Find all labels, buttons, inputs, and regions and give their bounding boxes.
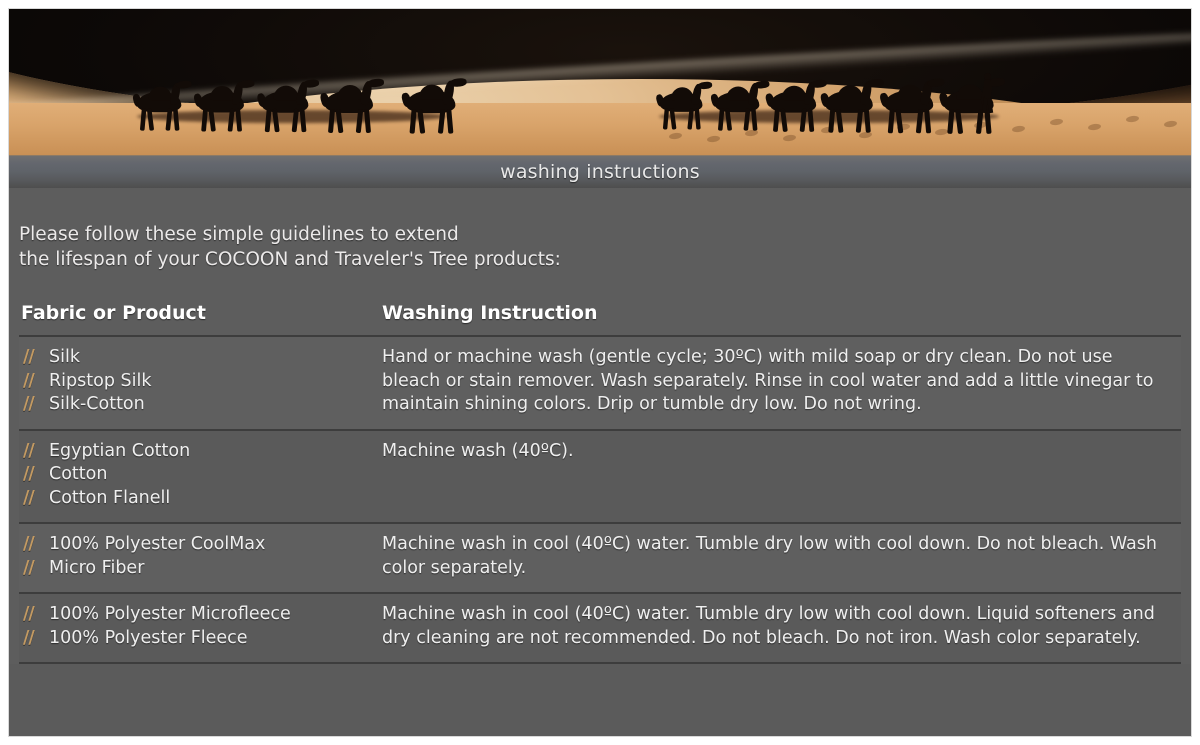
double-slash-icon: // — [23, 440, 43, 464]
caravan-group-1 — [127, 71, 487, 133]
double-slash-icon: // — [23, 487, 43, 511]
intro-line-1: Please follow these simple guidelines to… — [19, 222, 1181, 247]
fabric-list: //Silk //Ripstop Silk //Silk-Cotton — [21, 346, 377, 417]
table-row: //100% Polyester CoolMax //Micro Fiber M… — [19, 523, 1181, 593]
camel — [317, 75, 387, 133]
double-slash-icon: // — [23, 463, 43, 487]
fabric-list: //100% Polyester CoolMax //Micro Fiber — [21, 533, 377, 580]
double-slash-icon: // — [23, 627, 43, 651]
double-slash-icon: // — [23, 370, 43, 394]
fabric-cell: //Silk //Ripstop Silk //Silk-Cotton — [19, 336, 377, 430]
list-item: //100% Polyester Microfleece — [21, 603, 377, 627]
table-row: //Egyptian Cotton //Cotton //Cotton Flan… — [19, 430, 1181, 524]
instruction-cell: Hand or machine wash (gentle cycle; 30ºC… — [377, 336, 1181, 430]
content-area: Please follow these simple guidelines to… — [9, 188, 1191, 664]
fabric-label: 100% Polyester CoolMax — [49, 534, 265, 554]
instruction-text: Machine wash in cool (40ºC) water. Tumbl… — [382, 603, 1169, 650]
double-slash-icon: // — [23, 557, 43, 581]
camel-herder-figure — [981, 71, 993, 113]
list-item: //Silk — [21, 346, 377, 370]
double-slash-icon: // — [23, 393, 43, 417]
double-slash-icon: // — [23, 603, 43, 627]
list-item: //100% Polyester CoolMax — [21, 533, 377, 557]
camel — [398, 74, 469, 133]
desert-camel-caravan-banner — [9, 9, 1191, 155]
washing-instructions-page: washing instructions Please follow these… — [0, 0, 1200, 745]
instruction-text: Machine wash (40ºC). — [382, 440, 1169, 464]
double-slash-icon: // — [23, 533, 43, 557]
page-title: washing instructions — [500, 161, 700, 183]
fabric-label: 100% Polyester Microfleece — [49, 604, 291, 624]
list-item: //Ripstop Silk — [21, 370, 377, 394]
instruction-text: Machine wash in cool (40ºC) water. Tumbl… — [382, 533, 1169, 580]
column-header-instruction: Washing Instruction — [377, 298, 1181, 336]
intro-line-2: the lifespan of your COCOON and Traveler… — [19, 247, 1181, 272]
column-header-fabric: Fabric or Product — [19, 298, 377, 336]
fabric-label: Micro Fiber — [49, 558, 144, 578]
camel — [130, 77, 194, 130]
table-header-row: Fabric or Product Washing Instruction — [19, 298, 1181, 336]
list-item: //Silk-Cotton — [21, 393, 377, 417]
list-item: //Micro Fiber — [21, 557, 377, 581]
fabric-label: Egyptian Cotton — [49, 441, 190, 461]
washing-instructions-table: Fabric or Product Washing Instruction //… — [19, 298, 1181, 664]
instruction-text: Hand or machine wash (gentle cycle; 30ºC… — [382, 346, 1169, 417]
fabric-label: Silk-Cotton — [49, 394, 145, 414]
fabric-list: //100% Polyester Microfleece //100% Poly… — [21, 603, 377, 650]
intro-paragraph: Please follow these simple guidelines to… — [19, 188, 1181, 278]
list-item: //100% Polyester Fleece — [21, 627, 377, 651]
table-row: //100% Polyester Microfleece //100% Poly… — [19, 593, 1181, 663]
double-slash-icon: // — [23, 346, 43, 370]
instruction-cell: Machine wash in cool (40ºC) water. Tumbl… — [377, 523, 1181, 593]
page-title-bar: washing instructions — [9, 155, 1191, 188]
instruction-cell: Machine wash in cool (40ºC) water. Tumbl… — [377, 593, 1181, 663]
list-item: //Cotton — [21, 463, 377, 487]
list-item: //Cotton Flanell — [21, 487, 377, 511]
camel — [254, 76, 322, 132]
fabric-label: Cotton Flanell — [49, 488, 170, 508]
camel — [936, 74, 1008, 134]
page-frame: washing instructions Please follow these… — [8, 8, 1192, 737]
fabric-label: 100% Polyester Fleece — [49, 628, 248, 648]
caravan-group-2 — [649, 71, 1029, 133]
table-row: //Silk //Ripstop Silk //Silk-Cotton Hand… — [19, 336, 1181, 430]
fabric-list: //Egyptian Cotton //Cotton //Cotton Flan… — [21, 440, 377, 511]
camel — [653, 78, 715, 129]
instruction-cell: Machine wash (40ºC). — [377, 430, 1181, 524]
fabric-label: Silk — [49, 347, 80, 367]
fabric-label: Ripstop Silk — [49, 371, 151, 391]
fabric-cell: //Egyptian Cotton //Cotton //Cotton Flan… — [19, 430, 377, 524]
fabric-cell: //100% Polyester Microfleece //100% Poly… — [19, 593, 377, 663]
camel — [191, 76, 258, 131]
fabric-cell: //100% Polyester CoolMax //Micro Fiber — [19, 523, 377, 593]
list-item: //Egyptian Cotton — [21, 440, 377, 464]
fabric-label: Cotton — [49, 464, 107, 484]
